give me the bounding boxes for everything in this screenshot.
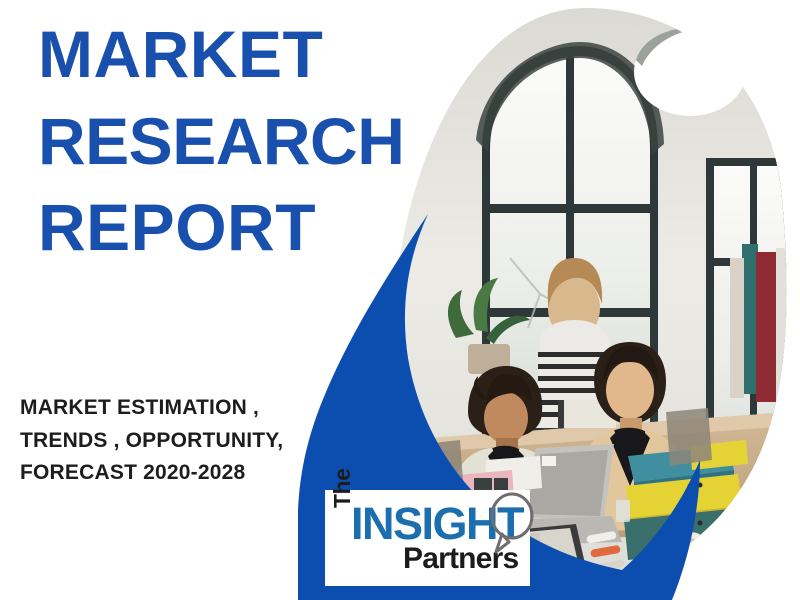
chair-right <box>666 408 712 466</box>
title-line-report: REPORT <box>38 195 398 260</box>
poster-subtitle: MARKET ESTIMATION , TRENDS , OPPORTUNITY… <box>20 392 350 490</box>
market-research-report-poster: MARKET RESEARCH REPORT MARKET ESTIMATION… <box>0 0 800 600</box>
magnifying-glass-icon <box>485 492 539 556</box>
subtitle-line-2: TRENDS , OPPORTUNITY, <box>20 425 350 458</box>
subtitle-line-3: FORECAST 2020-2028 <box>20 457 350 490</box>
clothes-rack <box>730 244 790 402</box>
subtitle-line-1: MARKET ESTIMATION , <box>20 392 350 425</box>
poster-title: MARKET RESEARCH REPORT <box>38 22 398 260</box>
title-line-research: RESEARCH <box>38 109 398 174</box>
title-line-market: MARKET <box>38 22 398 87</box>
insight-partners-logo: The INSIGHT Partners <box>325 490 530 586</box>
